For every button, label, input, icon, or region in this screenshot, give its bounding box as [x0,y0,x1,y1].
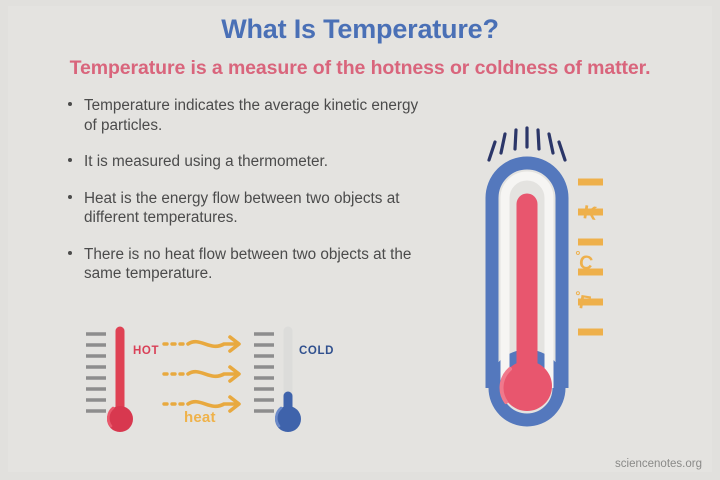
list-item-label: Heat is the energy flow between two obje… [84,190,399,227]
cold-thermometer-ticks [254,334,274,411]
infographic-canvas: What Is Temperature? Temperature is a me… [0,0,720,480]
scale-label-celsius: °C [572,248,595,276]
cold-thermometer-icon [254,331,301,432]
list-item-label: Temperature indicates the average kineti… [84,97,418,134]
list-item: There is no heat flow between two object… [66,245,426,284]
key-facts-list: Temperature indicates the average kineti… [66,96,426,301]
list-item: It is measured using a thermometer. [66,152,426,172]
large-thermometer-svg [430,120,660,430]
hot-thermometer-ticks [86,334,106,411]
hot-thermometer-icon [86,331,133,432]
bullet-dot-icon [68,251,72,255]
page-subtitle: Temperature is a measure of the hotness … [0,57,720,80]
list-item-label: There is no heat flow between two object… [84,246,411,283]
sunburst-rays-icon [489,128,565,160]
list-item-label: It is measured using a thermometer. [84,153,328,170]
large-thermometer-illustration [430,120,660,430]
bullet-dot-icon [68,102,72,106]
cold-label: COLD [299,345,334,357]
scale-label-kelvin-text: K [582,202,599,225]
heat-flow-diagram [78,322,363,440]
heat-label: heat [184,409,216,426]
bullet-dot-icon [68,195,72,199]
page-title: What Is Temperature? [0,14,720,45]
source-attribution: sciencenotes.org [615,458,702,470]
heat-flow-svg [78,322,363,440]
heat-arrows-icon [164,337,239,411]
list-item: Temperature indicates the average kineti… [66,96,426,135]
bullet-dot-icon [68,158,72,162]
list-item: Heat is the energy flow between two obje… [66,189,426,228]
hot-label: HOT [133,345,159,357]
